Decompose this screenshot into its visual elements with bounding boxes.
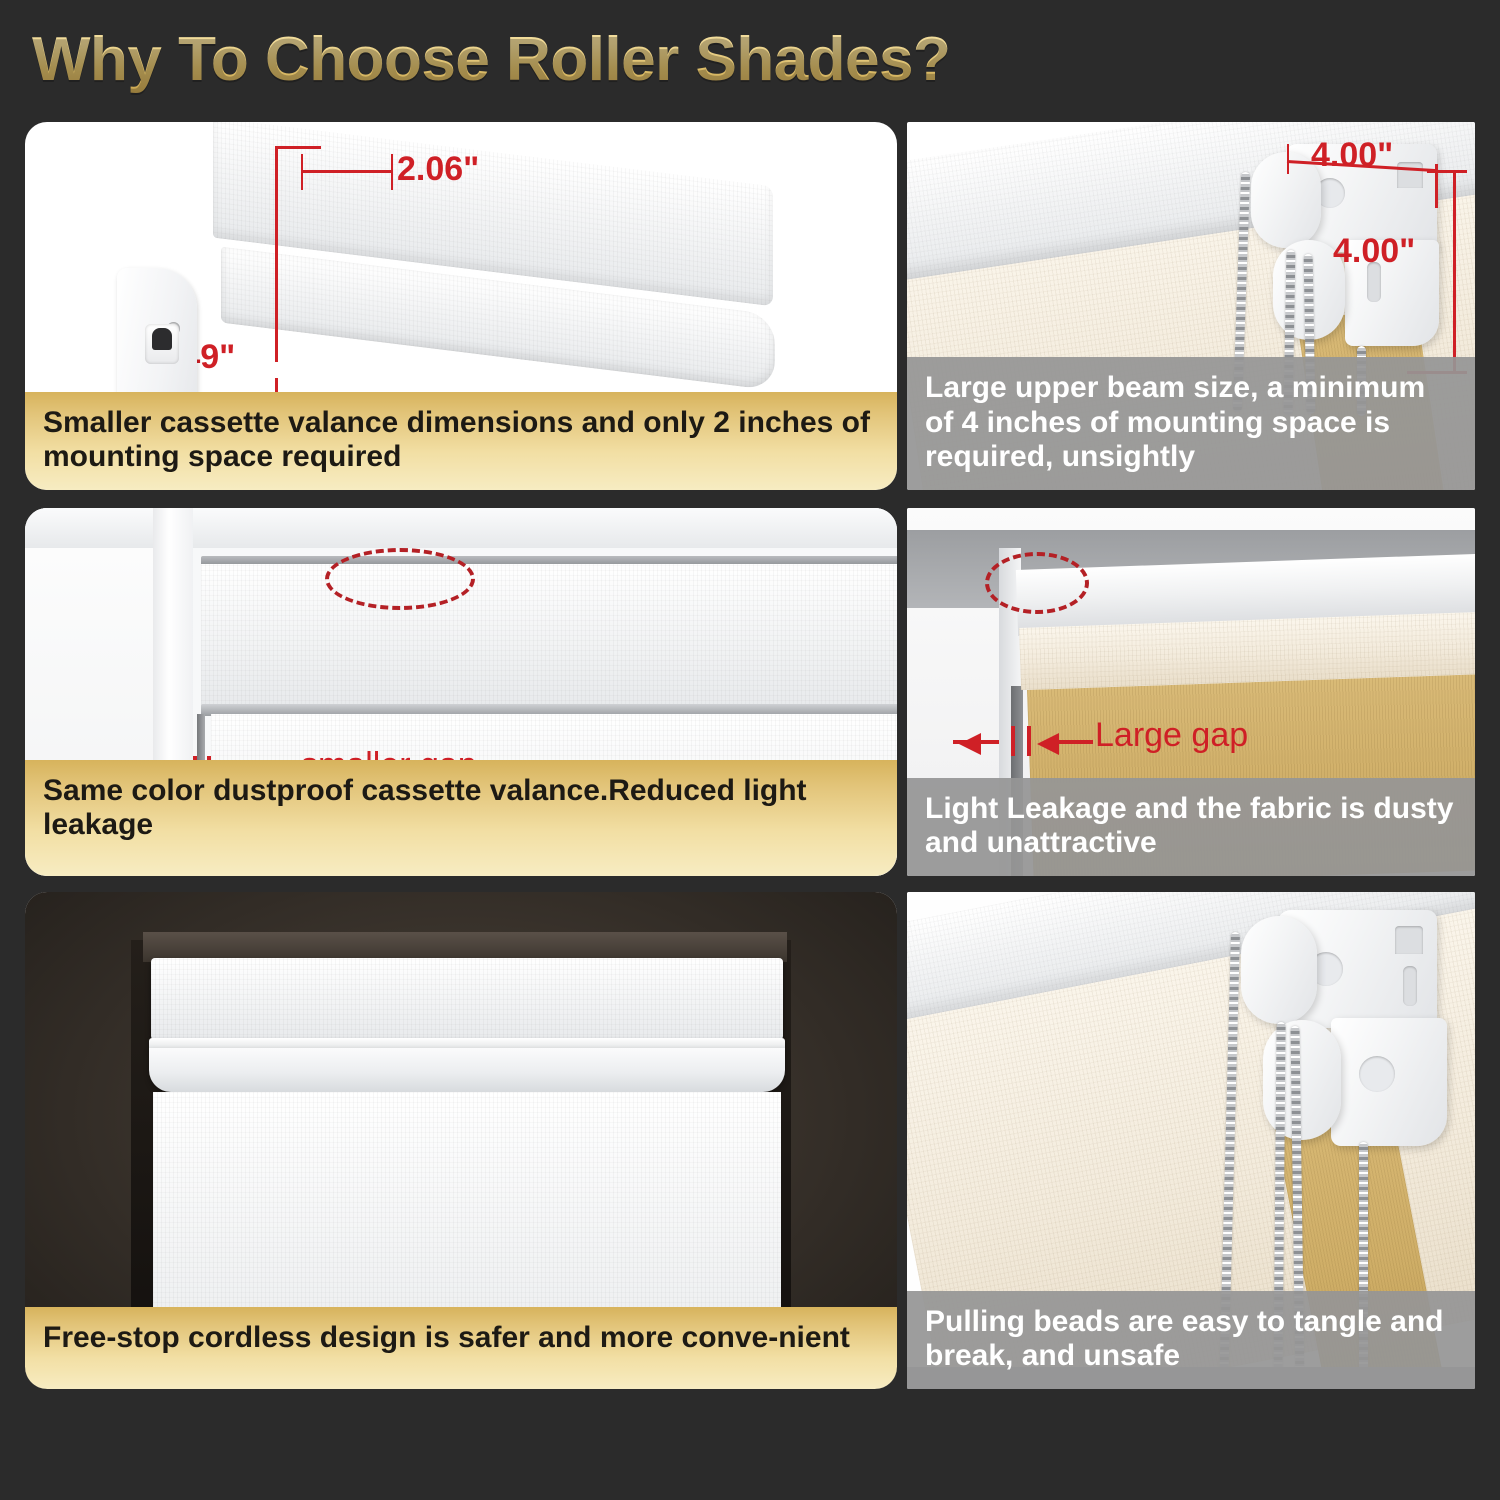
dimension-label-width: 4.00": [1311, 136, 1393, 175]
panel-3-caption: Same color dustproof cassette valance.Re…: [25, 760, 897, 876]
cassette-valance-face: [201, 564, 897, 706]
cassette-valance-head: [151, 958, 783, 1040]
panel-pulling-beads: Pulling beads are easy to tangle and bre…: [907, 892, 1475, 1389]
dimension-label-width: 2.06": [397, 150, 479, 189]
dim-line-height: [1453, 170, 1456, 374]
gap-tick-left: [1011, 726, 1015, 756]
bracket-slot: [145, 324, 179, 364]
gap-label: Large gap: [1095, 716, 1248, 755]
dim-tick-left: [1287, 144, 1289, 174]
dim-tick-top: [275, 146, 321, 149]
mounting-bracket-lower: [1331, 1018, 1447, 1146]
panel-large-upper-beam: 4.00" 4.00" Large upper beam size, a min…: [907, 122, 1475, 490]
gap-leader-right: [1057, 740, 1093, 744]
valance-roll: [149, 1048, 785, 1092]
highlight-ellipse: [325, 548, 475, 610]
arrow-right-icon: [1037, 733, 1059, 755]
panel-4-caption: Light Leakage and the fabric is dusty an…: [907, 778, 1475, 876]
cassette-valance-illustration: [213, 122, 773, 391]
bracket-roller-disc: [1241, 916, 1317, 1024]
panel-2-caption: Large upper beam size, a minimum of 4 in…: [907, 357, 1475, 490]
arrow-left-icon: [959, 733, 981, 755]
panel-smaller-gap: smaller gap Same color dustproof cassett…: [25, 508, 897, 876]
dim-tick-top: [1427, 170, 1467, 173]
panel-smaller-cassette: 2.06" 5.49" Smaller cassette valance dim…: [25, 122, 897, 490]
panel-large-gap: Large gap Light Leakage and the fabric i…: [907, 508, 1475, 876]
panel-5-caption: Free-stop cordless design is safer and m…: [25, 1307, 897, 1389]
panel-1-caption: Smaller cassette valance dimensions and …: [25, 392, 897, 490]
highlight-ellipse: [985, 552, 1089, 614]
bracket-clutch-disc: [1263, 1020, 1341, 1140]
gap-tick-right: [1027, 726, 1031, 756]
gap-leader-left: [953, 740, 999, 744]
panel-cordless-design: Free-stop cordless design is safer and m…: [25, 892, 897, 1389]
dimension-label-height: 4.00": [1333, 232, 1415, 271]
panel-6-caption: Pulling beads are easy to tangle and bre…: [907, 1291, 1475, 1389]
dim-line-height-upper: [275, 146, 278, 362]
dim-line-width: [301, 170, 393, 173]
page-title: Why To Choose Roller Shades?: [32, 24, 950, 95]
